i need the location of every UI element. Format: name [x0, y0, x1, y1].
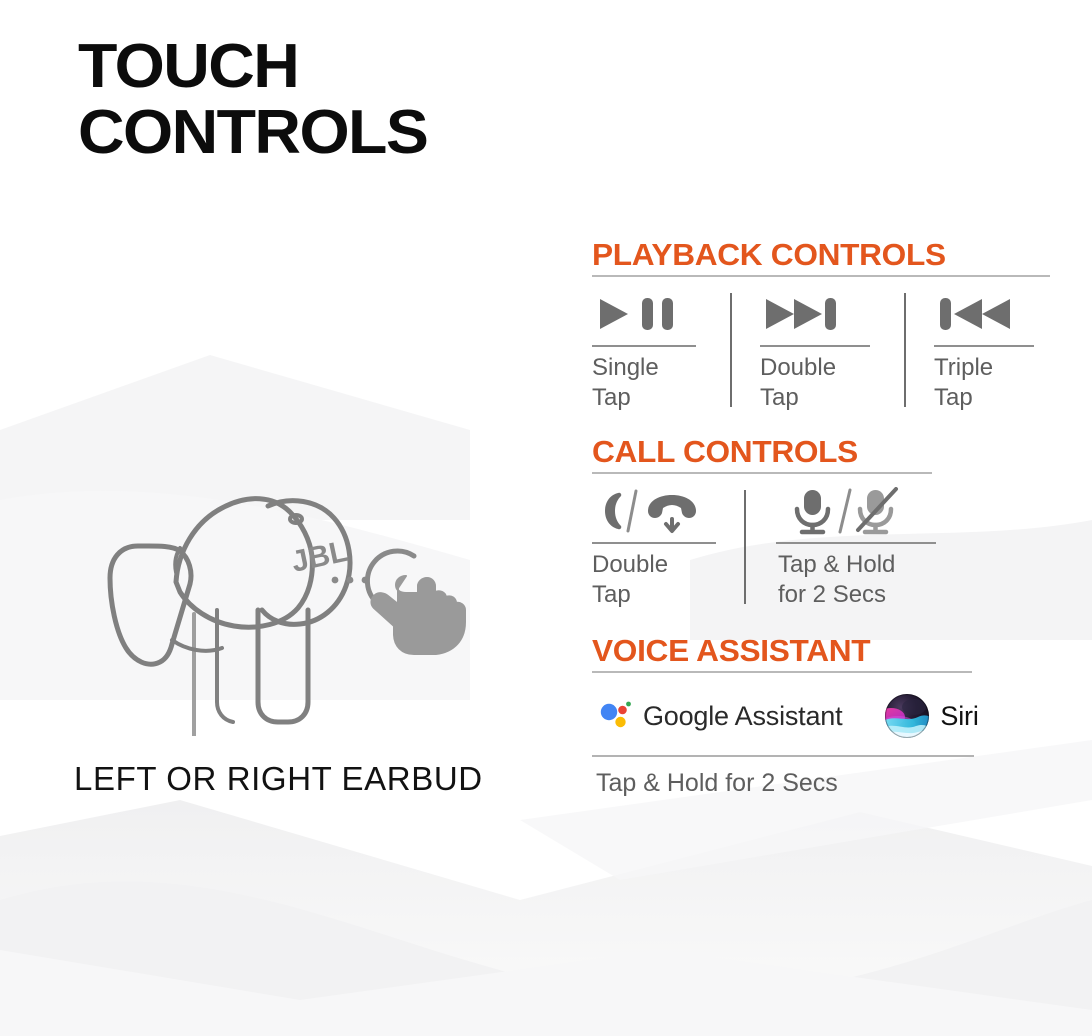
call-option-tap-hold-label: Tap & Hold for 2 Secs — [776, 550, 895, 610]
call-option-rule — [592, 542, 716, 544]
earbud-line-drawing: JBL — [62, 396, 532, 736]
playback-options-row: Single Tap Double Tap — [592, 291, 1054, 413]
playback-heading-rule — [592, 275, 1050, 277]
next-track-icon — [760, 291, 856, 337]
google-assistant-icon — [598, 699, 632, 733]
earbud-caption: LEFT OR RIGHT EARBUD — [74, 760, 544, 798]
call-heading-rule — [592, 472, 932, 474]
call-option-rule — [776, 542, 936, 544]
playback-option-triple-tap[interactable]: Triple Tap — [934, 291, 1044, 413]
previous-track-icon — [934, 291, 1030, 337]
call-option-double-tap[interactable]: Double Tap — [592, 488, 728, 610]
voice-assistant-siri-label: Siri — [940, 701, 978, 732]
jbl-logo: JBL — [289, 535, 351, 579]
call-controls-heading: CALL CONTROLS — [592, 435, 1063, 469]
call-option-tap-hold[interactable]: Tap & Hold for 2 Secs — [776, 488, 956, 610]
call-options-row: Double Tap — [592, 488, 1054, 610]
voice-assistant-google-label: Google Assistant — [643, 701, 842, 732]
playback-option-double-tap-label: Double Tap — [760, 353, 836, 413]
call-option-double-tap-label: Double Tap — [592, 550, 668, 610]
playback-option-rule — [592, 345, 696, 347]
voice-heading-rule — [592, 671, 972, 673]
answer-hangup-call-icon — [592, 488, 716, 534]
playback-controls-heading: PLAYBACK CONTROLS — [592, 238, 1063, 272]
section-call-controls: CALL CONTROLS — [592, 435, 1054, 610]
call-divider-1 — [744, 490, 746, 604]
earbud-illustration: JBL — [62, 396, 532, 736]
playback-divider-1 — [730, 293, 732, 407]
playback-divider-2 — [904, 293, 906, 407]
touch-indicator-dots — [332, 577, 369, 584]
playback-option-double-tap[interactable]: Double Tap — [760, 291, 882, 413]
playback-option-triple-tap-label: Triple Tap — [934, 353, 993, 413]
page-title: TOUCH CONTROLS — [78, 34, 638, 166]
siri-icon — [884, 693, 930, 739]
page-title-line-1: TOUCH — [78, 34, 660, 100]
playback-option-rule — [934, 345, 1034, 347]
playback-option-rule — [760, 345, 870, 347]
section-playback-controls: PLAYBACK CONTROLS Single Tap — [592, 238, 1054, 413]
voice-assistant-rule — [592, 755, 974, 757]
voice-assistant-siri[interactable]: Siri — [884, 693, 978, 739]
playback-option-single-tap[interactable]: Single Tap — [592, 291, 710, 413]
pointing-hand-icon — [371, 576, 465, 654]
voice-assistant-row: Google Assistant — [592, 689, 1054, 743]
touch-controls-infographic: TOUCH CONTROLS — [0, 0, 1092, 1036]
play-pause-icon — [592, 291, 688, 337]
playback-option-single-tap-label: Single Tap — [592, 353, 659, 413]
voice-assistant-google[interactable]: Google Assistant — [598, 699, 842, 733]
mic-mute-icon — [776, 488, 910, 534]
voice-assistant-heading: VOICE ASSISTANT — [592, 634, 1063, 668]
section-voice-assistant: VOICE ASSISTANT Google Assistant — [592, 634, 1054, 798]
page-title-line-2: CONTROLS — [78, 100, 660, 166]
controls-panel: PLAYBACK CONTROLS Single Tap — [592, 238, 1054, 798]
voice-assistant-note: Tap & Hold for 2 Secs — [592, 769, 1054, 798]
